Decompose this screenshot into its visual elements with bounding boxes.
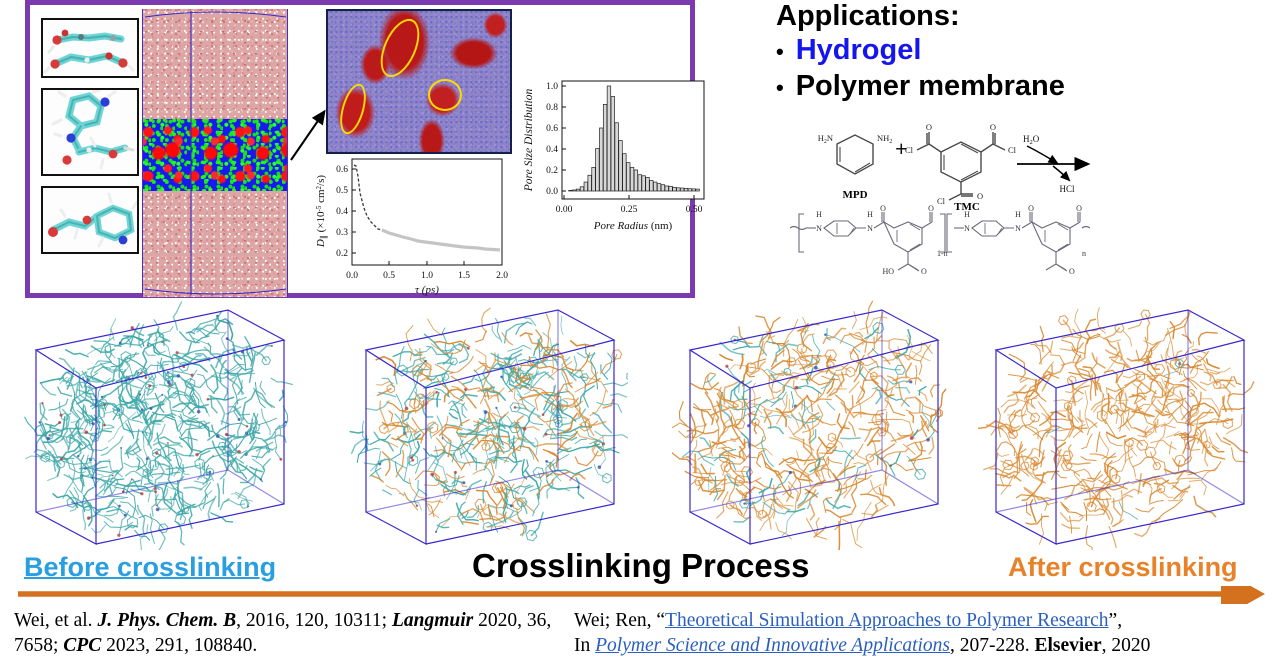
heteroatom-dot xyxy=(84,430,88,434)
polymer-fragment xyxy=(271,378,292,384)
polymer-fragment xyxy=(903,444,915,454)
psd-bar xyxy=(626,163,630,191)
polymer-fragment xyxy=(152,492,157,517)
polymer-fragment xyxy=(280,390,284,400)
polymer-fragment xyxy=(1065,486,1075,499)
psd-bar xyxy=(673,187,677,191)
polymer-fragment xyxy=(135,525,148,550)
psd-bar xyxy=(630,167,634,191)
bullet-icon: • xyxy=(776,41,784,63)
tmc-o-3: O xyxy=(977,191,983,201)
polymer-fragment xyxy=(531,372,548,388)
polymer-fragment xyxy=(1151,452,1167,474)
polymer-fragment xyxy=(253,459,264,470)
cit-r-after-link: ”, xyxy=(1109,610,1123,631)
psd-bar xyxy=(603,104,607,191)
polymer-fragment xyxy=(807,425,810,444)
polymer-fragment xyxy=(174,355,207,372)
polymer-fragment xyxy=(25,417,36,431)
polymer-fragment xyxy=(157,351,166,353)
heteroatom-dot xyxy=(410,456,413,459)
polymer-fragment xyxy=(1084,503,1087,521)
polymer-fragment xyxy=(109,496,128,497)
heteroatom-dot xyxy=(140,372,142,374)
psd-bar xyxy=(634,170,638,191)
polymer-fragment xyxy=(266,422,286,441)
mpd-label: MPD xyxy=(842,189,867,201)
heteroatom-dot xyxy=(117,534,120,537)
psd-xlabel: Pore Radius (nm) xyxy=(593,220,673,232)
psd-bar xyxy=(619,141,623,191)
polymer-fragment xyxy=(412,442,420,458)
poly-n-left: 1-n xyxy=(937,249,948,258)
cit-r-in: In xyxy=(574,635,595,656)
polymer-fragment xyxy=(1026,516,1048,524)
polymer-fragment xyxy=(796,386,821,394)
polymer-fragment xyxy=(879,339,910,347)
poly-ho: HO xyxy=(882,267,894,276)
polymer-fragment xyxy=(700,438,710,447)
polymer-fragment xyxy=(702,411,706,426)
polymer-fragment xyxy=(220,499,229,510)
polymer-fragment xyxy=(1227,415,1242,434)
md-box-wireframe xyxy=(143,9,288,297)
polymer-fragment xyxy=(505,354,521,359)
heteroatom-dot xyxy=(207,398,210,401)
heteroatom-dot xyxy=(454,471,457,474)
cit-l-seg-2: , 2016, 120, 10311; xyxy=(236,610,392,631)
polymer-fragment xyxy=(1199,332,1218,344)
heteroatom-dot xyxy=(167,442,169,444)
polymer-fragment xyxy=(1104,328,1120,339)
heteroatom-dot xyxy=(598,465,602,469)
polymer-fragment xyxy=(235,407,243,437)
diff-ylabel: D∥ (×10-5 cm2/s) xyxy=(315,175,328,248)
polymer-fragment xyxy=(866,301,873,334)
polymer-fragment xyxy=(1082,434,1093,449)
pore-highlight-ellipse-2 xyxy=(335,81,370,137)
mpd-amine-left: H2N xyxy=(818,133,833,145)
tmc-cl-1: Cl xyxy=(905,145,914,155)
polymer-fragment xyxy=(794,413,804,435)
polymer-fragment xyxy=(1081,457,1096,461)
psd-bar xyxy=(653,182,657,191)
polymer-fragment xyxy=(1138,404,1149,408)
psd-bar xyxy=(580,187,584,191)
polymer-fragment xyxy=(766,341,779,351)
polymer-fragment xyxy=(561,316,563,335)
citation-chapter-link[interactable]: Theoretical Simulation Approaches to Pol… xyxy=(665,610,1109,631)
polymer-fragment xyxy=(851,342,863,353)
polymer-fragment xyxy=(83,510,86,529)
polymer-fragment xyxy=(383,490,392,495)
polymer-fragment xyxy=(138,505,145,534)
polymer-fragment xyxy=(683,451,714,465)
reaction-arrow-icon xyxy=(1017,146,1087,180)
polymer-fragment xyxy=(597,402,622,412)
polymer-fragment xyxy=(714,405,738,408)
polymer-fragment xyxy=(1179,367,1203,370)
polymer-fragment xyxy=(1097,333,1120,342)
polymer-fragment xyxy=(575,439,586,443)
heteroatom-dot xyxy=(77,455,79,457)
applications-title: Applications: xyxy=(770,0,1270,32)
application-label-hydrogel: Hydrogel xyxy=(796,33,922,68)
polymer-fragment xyxy=(1087,419,1097,427)
polymer-fragment xyxy=(350,432,363,433)
polymer-fragment xyxy=(733,346,749,350)
polymer-fragment xyxy=(502,333,513,345)
polymer-fragment xyxy=(875,475,888,505)
polymer-fragment xyxy=(701,464,714,473)
svg-text:0.25: 0.25 xyxy=(621,205,638,215)
psd-bar xyxy=(677,188,681,191)
polymer-fragment xyxy=(366,401,389,410)
polymer-fragment xyxy=(791,392,793,408)
polymer-fragment xyxy=(218,484,219,507)
polymer-fragment xyxy=(798,360,809,381)
polymer-fragment xyxy=(144,441,147,457)
diff-xtick-labels: 0.0 0.5 1.0 1.5 2.0 xyxy=(346,271,508,281)
heteroatom-dot xyxy=(260,478,262,480)
poly-atom-n-3: N xyxy=(964,224,970,233)
psd-bar xyxy=(584,182,588,191)
poly-atom-n-2: N xyxy=(867,224,873,233)
polymer-fragment xyxy=(574,356,576,369)
polymer-fragment xyxy=(41,383,56,396)
heteroatom-dot xyxy=(87,516,91,520)
heteroatom-dot xyxy=(510,504,513,507)
citation-book-link[interactable]: Polymer Science and Innovative Applicati… xyxy=(595,635,950,656)
polymer-fragment xyxy=(463,522,479,524)
polymer-fragment xyxy=(690,414,695,443)
polymer-fragment xyxy=(76,385,82,403)
heteroatom-dot xyxy=(279,458,282,461)
svg-text:0.2: 0.2 xyxy=(336,249,348,259)
cit-l-seg-5: CPC xyxy=(63,635,101,656)
polymer-fragment xyxy=(252,451,269,458)
polymer-fragment xyxy=(1109,527,1116,548)
polymer-fragment xyxy=(857,502,871,541)
reaction-scheme: H2N NH2 + O O O Cl Cl Cl MPD TMC xyxy=(795,122,1095,212)
polymer-fragment xyxy=(158,464,169,467)
application-label-membrane: Polymer membrane xyxy=(796,69,1065,104)
tmc-cl-2: Cl xyxy=(1008,145,1017,155)
molecule-thumbnail-1 xyxy=(41,18,139,78)
polymer-fragment xyxy=(849,382,859,393)
polymer-fragment xyxy=(1039,514,1043,545)
heteroatom-dot xyxy=(416,505,418,507)
poly-atom-o-3: O xyxy=(921,267,927,276)
polymer-fragment xyxy=(810,504,814,520)
polymer-fragment xyxy=(49,399,68,410)
psd-xtick-labels: 0.00 0.25 0.50 xyxy=(556,205,703,215)
polymer-fragment xyxy=(847,390,876,410)
application-item-hydrogel: • Hydrogel xyxy=(770,33,1270,68)
polymer-fragment xyxy=(902,397,921,412)
polymer-fragment xyxy=(784,319,798,356)
polymer-fragment xyxy=(449,413,457,419)
polymer-fragment xyxy=(854,414,870,418)
psd-bar xyxy=(615,123,619,191)
polymer-fragment xyxy=(1138,474,1141,494)
psd-bar xyxy=(684,188,688,191)
polymer-fragment xyxy=(1169,442,1171,454)
heteroatom-dot xyxy=(926,438,930,442)
psd-bar xyxy=(592,167,596,191)
polymer-fragment xyxy=(379,392,396,396)
heteroatom-dot xyxy=(824,333,827,336)
cit-r-prefix: Wei; Ren, “ xyxy=(574,610,665,631)
polymer-fragment xyxy=(1070,516,1072,533)
polymer-fragment xyxy=(896,388,910,393)
psd-bar xyxy=(569,190,573,191)
polymer-fragment xyxy=(477,506,497,517)
polymer-fragment xyxy=(1200,419,1233,423)
polymer-fragment xyxy=(1040,326,1043,352)
polymer-fragment xyxy=(849,422,856,436)
polymer-fragment xyxy=(880,488,895,506)
polymer-fragment xyxy=(1117,364,1125,382)
polymer-fragment xyxy=(496,457,522,462)
polymer-mesh-after xyxy=(978,308,1254,550)
psd-bar xyxy=(696,189,700,191)
polymer-fragment xyxy=(1074,469,1095,481)
pore-highlight-ellipse-3 xyxy=(428,79,462,111)
molecule-thumbnail-3 xyxy=(41,186,139,254)
polymer-fragment xyxy=(826,499,850,508)
polymer-fragment xyxy=(868,337,875,355)
heteroatom-dot xyxy=(814,366,818,370)
polymer-fragment xyxy=(245,337,253,366)
psd-bar xyxy=(588,175,592,191)
polymer-fragment xyxy=(409,434,412,466)
svg-text:0.3: 0.3 xyxy=(336,228,348,238)
polymer-fragment xyxy=(768,427,783,434)
polymer-fragment xyxy=(1004,395,1018,413)
polymer-fragment xyxy=(453,402,462,426)
polymer-fragment xyxy=(1009,375,1030,379)
heteroatom-dot xyxy=(124,514,127,517)
heteroatom-dot xyxy=(808,491,810,493)
polymer-fragment xyxy=(261,459,270,479)
heteroatom-dot xyxy=(138,372,140,374)
aromatic-ring xyxy=(627,372,628,382)
polymer-fragment xyxy=(260,381,265,394)
polymer-fragment xyxy=(1123,331,1132,347)
polymer-fragment xyxy=(1107,432,1126,438)
polymer-fragment xyxy=(194,479,211,483)
polymer-fragment xyxy=(929,438,934,455)
heteroatom-dot xyxy=(145,376,148,379)
heteroatom-dot xyxy=(209,471,211,473)
psd-bar xyxy=(596,148,600,191)
psd-bar xyxy=(573,190,577,191)
polymer-fragment xyxy=(101,437,123,456)
heteroatom-dot xyxy=(104,404,106,406)
polymer-fragment xyxy=(216,378,227,400)
poly-atom-h-3: H xyxy=(964,210,970,219)
polymer-fragment xyxy=(789,400,799,428)
heteroatom-dot xyxy=(545,460,548,463)
cit-l-seg-1: J. Phys. Chem. B xyxy=(97,610,236,631)
psd-ylabel: Pore Size Distribution xyxy=(523,89,535,193)
heteroatom-dot xyxy=(149,407,152,410)
polymer-fragment xyxy=(898,347,900,356)
heteroatom-dot xyxy=(435,531,437,533)
polymer-fragment xyxy=(828,459,842,464)
svg-text:0.50: 0.50 xyxy=(686,205,703,215)
polymer-fragment xyxy=(476,331,487,342)
polymer-fragment xyxy=(744,507,761,515)
svg-text:0.00: 0.00 xyxy=(556,205,573,215)
cit-r-publisher: Elsevier xyxy=(1035,635,1102,656)
polymer-mesh-stage3 xyxy=(672,301,946,550)
psd-bar xyxy=(638,175,642,191)
polymer-fragment xyxy=(604,376,628,386)
heteroatom-dot xyxy=(59,414,62,417)
applications-block: Applications: • Hydrogel • Polymer membr… xyxy=(770,0,1270,104)
polymer-fragment xyxy=(575,467,591,474)
polymer-fragment xyxy=(1128,443,1136,477)
polymer-fragment xyxy=(259,418,277,425)
polymer-fragment xyxy=(492,326,500,339)
svg-text:0.5: 0.5 xyxy=(336,186,348,196)
heteroatom-dot xyxy=(271,345,273,347)
heteroatom-dot xyxy=(725,365,728,368)
polymer-fragment xyxy=(189,432,192,456)
polymer-fragment xyxy=(221,421,247,427)
polymer-fragment xyxy=(383,452,390,475)
polymer-fragment xyxy=(1232,448,1245,462)
polymer-fragment xyxy=(1192,354,1201,362)
cit-r-year: , 2020 xyxy=(1102,635,1151,656)
polymer-fragment xyxy=(1087,423,1096,435)
heteroatom-dot xyxy=(112,475,114,477)
polymer-fragment xyxy=(257,391,275,407)
polymer-fragment xyxy=(1063,320,1072,335)
cit-l-seg-3: Langmuir xyxy=(392,610,473,631)
polymer-fragment xyxy=(1020,378,1035,382)
polymer-fragment xyxy=(515,446,538,461)
psd-bar xyxy=(650,181,654,192)
heteroatom-dot xyxy=(435,391,438,394)
polymer-fragment xyxy=(143,408,151,442)
diff-ytick-labels: 0.2 0.3 0.4 0.5 0.6 xyxy=(336,165,348,259)
polymer-fragment xyxy=(396,394,402,418)
heteroatom-dot xyxy=(484,410,488,414)
poly-atom-h-2: H xyxy=(867,210,873,219)
poly-atom-o-1: O xyxy=(880,204,886,213)
polymer-fragment xyxy=(376,357,395,376)
polymer-fragment xyxy=(58,387,72,396)
diffusion-coefficient-plot: 0.2 0.3 0.4 0.5 0.6 0.0 0.5 1.0 1.5 2.0 xyxy=(310,153,510,297)
polymer-fragment xyxy=(166,417,178,432)
polymer-fragment xyxy=(223,479,224,494)
polymer-fragment xyxy=(1209,437,1218,449)
heteroatom-dot xyxy=(58,421,61,424)
polymer-fragment xyxy=(862,336,882,343)
heteroatom-dot xyxy=(424,360,426,362)
polymer-fragment xyxy=(748,446,772,456)
polymer-fragment xyxy=(571,341,594,346)
polymer-fragment xyxy=(718,447,733,449)
polymer-fragment xyxy=(437,446,444,461)
heteroatom-dot xyxy=(176,351,179,354)
heteroatom-dot xyxy=(789,471,792,474)
polymer-fragment xyxy=(782,511,796,536)
polymer-fragment xyxy=(533,494,539,516)
polymer-fragment xyxy=(1216,433,1230,445)
polymer-fragment xyxy=(733,471,747,472)
psd-bar xyxy=(661,185,665,191)
svg-text:1.0: 1.0 xyxy=(421,271,433,281)
crosslink-box-after xyxy=(978,292,1258,550)
polymer-fragment xyxy=(852,312,856,329)
tmc-o-2: O xyxy=(990,122,996,132)
polymer-fragment xyxy=(826,510,852,517)
polymer-fragment xyxy=(1212,447,1224,452)
heteroatom-dot xyxy=(130,326,133,329)
crosslink-box-stage2 xyxy=(348,292,628,550)
heteroatom-dot xyxy=(103,424,106,427)
heteroatom-dot xyxy=(462,481,465,484)
polymer-fragment xyxy=(841,438,860,439)
polymer-fragment xyxy=(181,428,201,436)
psd-bar xyxy=(576,189,580,191)
heteroatom-dot xyxy=(101,396,103,398)
polymer-fragment xyxy=(461,395,477,398)
polymer-fragment xyxy=(60,402,62,415)
polymer-fragment xyxy=(1134,337,1148,360)
application-item-membrane: • Polymer membrane xyxy=(770,69,1270,104)
heteroatom-dot xyxy=(155,452,158,455)
polymer-fragment xyxy=(40,378,62,383)
molecule-render-2 xyxy=(43,90,137,174)
heteroatom-dot xyxy=(39,421,41,423)
heteroatom-dot xyxy=(156,504,158,506)
polymer-fragment xyxy=(1027,380,1037,397)
polymer-fragment xyxy=(104,425,114,427)
polymer-fragment xyxy=(914,461,917,471)
polymer-fragment xyxy=(493,412,509,417)
molecule-thumbnail-2 xyxy=(41,88,139,176)
polymer-fragment xyxy=(415,471,439,483)
polymer-fragment xyxy=(1031,345,1041,365)
polymer-fragment xyxy=(720,355,733,361)
poly-atom-o-5: O xyxy=(1076,204,1082,213)
heteroatom-dot xyxy=(148,384,151,387)
psd-bar xyxy=(657,184,661,191)
polymer-fragment xyxy=(454,453,466,464)
svg-text:1.0: 1.0 xyxy=(546,82,558,92)
polymer-fragment xyxy=(1149,501,1163,505)
molecule-render-3 xyxy=(43,188,137,252)
psd-bar xyxy=(646,177,650,191)
process-arrow-icon xyxy=(18,586,1270,604)
polymer-fragment xyxy=(428,319,442,336)
polymer-fragment xyxy=(1123,374,1138,378)
polymer-fragment xyxy=(430,428,431,438)
polymer-fragment xyxy=(482,308,490,332)
pore-size-distribution-plot: 0.0 0.2 0.4 0.6 0.8 1.0 0.00 0.25 0.50 P… xyxy=(518,73,714,239)
polymer-fragment xyxy=(1207,359,1219,368)
poly-atom-n-1: N xyxy=(816,224,822,233)
polymer-fragment xyxy=(1085,391,1089,429)
heteroatom-dot xyxy=(91,477,93,479)
arrow-water-label: H2O xyxy=(1023,134,1040,146)
polymer-fragment xyxy=(734,502,755,522)
